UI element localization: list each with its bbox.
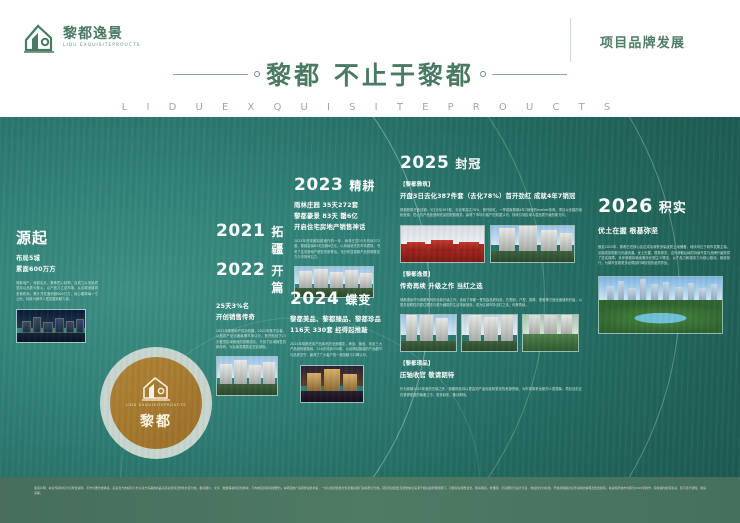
brand-name-en: LIDU EXQUISITEPROUCTS bbox=[63, 44, 140, 49]
timeline-year-heading-2022: 2022 开篇 bbox=[216, 260, 286, 296]
year-2024: 2024 bbox=[290, 289, 339, 309]
header-section-label: 项目品牌发展 bbox=[600, 32, 685, 51]
page-header: 黎都逸景 LIDU EXQUISITEPROUCTS 项目品牌发展 黎都 不止于… bbox=[0, 0, 740, 117]
red-opening-photo bbox=[400, 225, 485, 263]
timeline-year-heading-2026: 2026 积实 bbox=[598, 195, 730, 217]
emblem-en-label: LIDU EXQUISITEPROUCTS bbox=[126, 403, 186, 407]
word-2026: 积实 bbox=[659, 197, 687, 216]
year-2025: 2025 bbox=[400, 153, 449, 173]
timeline-column-origin: 源起 布局5城 累面600万方 黎都地产，深耕实业，秉承匠心精神，自成立以来始终… bbox=[16, 227, 98, 343]
rule-left bbox=[173, 74, 248, 75]
page-footer: 使用声明：本宣传资料仅为引导性说明，不作为要约或承诺。买卖双方的权利义务以双方签… bbox=[0, 477, 740, 523]
house-monogram-icon bbox=[141, 375, 171, 401]
timeline-column-2024: 2024 蝶变 黎都美品、黎都臻品、黎都珍品 116天 330套 经得起推敲 2… bbox=[290, 289, 382, 403]
rule-right bbox=[492, 74, 567, 75]
year-2026: 2026 bbox=[598, 195, 653, 217]
timeline-column-2023: 2023 精耕 雨林庄园 35天272套 黎都豪景 83天 罄6亿 开启住宅房地… bbox=[294, 175, 380, 298]
poster-page: 黎都逸景 LIDU EXQUISITEPROUCTS 项目品牌发展 黎都 不止于… bbox=[0, 0, 740, 523]
y2021-lead: 25天3%名 开创销售传奇 bbox=[216, 301, 286, 323]
towers-photo-3 bbox=[522, 314, 579, 352]
page-subtitle: L I D U E X Q U I S I T E P R O U C T S bbox=[0, 102, 740, 113]
yazhu-lead: 开盘3日去化387件套（去化78%）首开劲红 成就4年7销冠 bbox=[400, 191, 582, 202]
jingpin-lead: 压轴收官 敬请期待 bbox=[400, 370, 582, 381]
origin-paragraph: 黎都地产，深耕实业，秉承匠心精神，自成立以来始终坚持以品质为核心，以产品力立足市… bbox=[16, 281, 98, 302]
dot-left-icon bbox=[254, 71, 260, 77]
brand-lockup: 黎都逸景 LIDU EXQUISITEPROUCTS bbox=[22, 22, 140, 54]
y2024-lead: 黎都美品、黎都臻品、黎都珍品 116天 330套 经得起推敲 bbox=[290, 314, 382, 336]
day-residential-photo bbox=[216, 356, 278, 396]
timeline-year-heading-2025: 2025 封冠 bbox=[400, 153, 582, 173]
timeline-column-2026: 2026 积实 优土在握 根基弥坚 截至2025年，黎都已在核心区位成功斩获多幅… bbox=[598, 195, 730, 334]
towers-photo-1 bbox=[400, 314, 457, 352]
timeline-year-heading-2021: 2021 拓疆 bbox=[216, 221, 286, 257]
origin-lead: 布局5城 累面600万方 bbox=[16, 253, 98, 275]
brand-name-cn: 黎都逸景 bbox=[63, 27, 140, 41]
park-skyline-photo bbox=[598, 276, 723, 334]
timeline-year-heading-2024: 2024 蝶变 bbox=[290, 289, 382, 309]
day-tower-photo bbox=[490, 225, 575, 263]
y2026-lead: 优土在握 根基弥坚 bbox=[598, 225, 730, 237]
timeline-board: LIDU EXQUISITEPROUCTS 黎都 源起 布局5城 累面600万方… bbox=[0, 117, 740, 477]
year-2022: 2022 bbox=[216, 260, 265, 280]
section-head-jingpin: 【黎都璟品】 bbox=[400, 359, 582, 367]
footer-disclaimer: 使用声明：本宣传资料仅为引导性说明，不作为要约或承诺。买卖双方的权利义务以双方签… bbox=[34, 486, 706, 497]
origin-word: 源起 bbox=[16, 227, 48, 248]
section-head-yijing: 【黎都逸景】 bbox=[400, 270, 582, 278]
yijing-lead: 传奇再续 升级之作 当红之选 bbox=[400, 281, 582, 292]
y2021-paragraph: 2021年黎都地产成功拓疆，2022年落子启幕，以品质产品迅速赢得市场认可，首开… bbox=[216, 329, 286, 350]
timeline-year-heading: 源起 bbox=[16, 227, 98, 248]
word-2025: 封冠 bbox=[455, 155, 481, 172]
yijing-paragraph: 黎都逸景作为黎都系列的全新升级之作，延续了黎都一贯的高品质标准，在规划、户型、园… bbox=[400, 298, 582, 309]
y2026-paragraph: 截至2025年，黎都已在核心区位成功斩获多幅优质土地储备，地块均位于城市发展主轴… bbox=[598, 245, 730, 266]
title-block: 黎都 不止于黎都 L I D U E X Q U I S I T E P R O… bbox=[0, 56, 740, 113]
year-2023: 2023 bbox=[294, 175, 343, 195]
y2024-paragraph: 2024年黎都完成产品体系的全面蝶变，美品、臻品、珍品三大产品线相继落地，116… bbox=[290, 342, 382, 358]
night-skyline-photo bbox=[16, 309, 86, 343]
timeline-year-heading-2023: 2023 精耕 bbox=[294, 175, 380, 195]
dot-right-icon bbox=[480, 71, 486, 77]
word-2024: 蝶变 bbox=[345, 291, 371, 308]
timeline-column-2021: 2021 拓疆 2022 开篇 25天3%名 开创销售传奇 2021年黎都地产成… bbox=[216, 221, 286, 396]
y2023-paragraph: 2023年是黎都精耕细作的一年，雨林庄园35天热销272套，黎都豪景83天劲销6… bbox=[294, 239, 380, 260]
year-2021: 2021 bbox=[216, 221, 265, 241]
section-head-yazhu: 【黎都雅筑】 bbox=[400, 180, 582, 188]
emblem-cn-label: 黎都 bbox=[140, 411, 172, 431]
gold-night-photo bbox=[300, 365, 364, 403]
brand-emblem: LIDU EXQUISITEPROUCTS 黎都 bbox=[100, 347, 212, 459]
jingpin-paragraph: 作为黎都2025年度的压轴之作，黎都璟品将以更高的产品标准和更优的资源禀赋，为市… bbox=[400, 387, 582, 398]
towers-photo-2 bbox=[461, 314, 518, 352]
word-2021: 拓疆 bbox=[271, 223, 286, 257]
yazhu-paragraph: 黎都雅筑开盘劲销，3日去化387套，去化率高达78%，首开即红，一举成就黎都4年… bbox=[400, 208, 582, 219]
timeline-column-2025: 2025 封冠 【黎都雅筑】 开盘3日去化387件套（去化78%）首开劲红 成就… bbox=[400, 153, 582, 398]
page-title: 黎都 不止于黎都 bbox=[266, 56, 474, 92]
house-logo-icon bbox=[22, 22, 56, 54]
y2023-lead: 雨林庄园 35天272套 黎都豪景 83天 罄6亿 开启住宅房地产销售神话 bbox=[294, 200, 380, 233]
word-2023: 精耕 bbox=[349, 177, 375, 194]
word-2022: 开篇 bbox=[271, 262, 286, 296]
